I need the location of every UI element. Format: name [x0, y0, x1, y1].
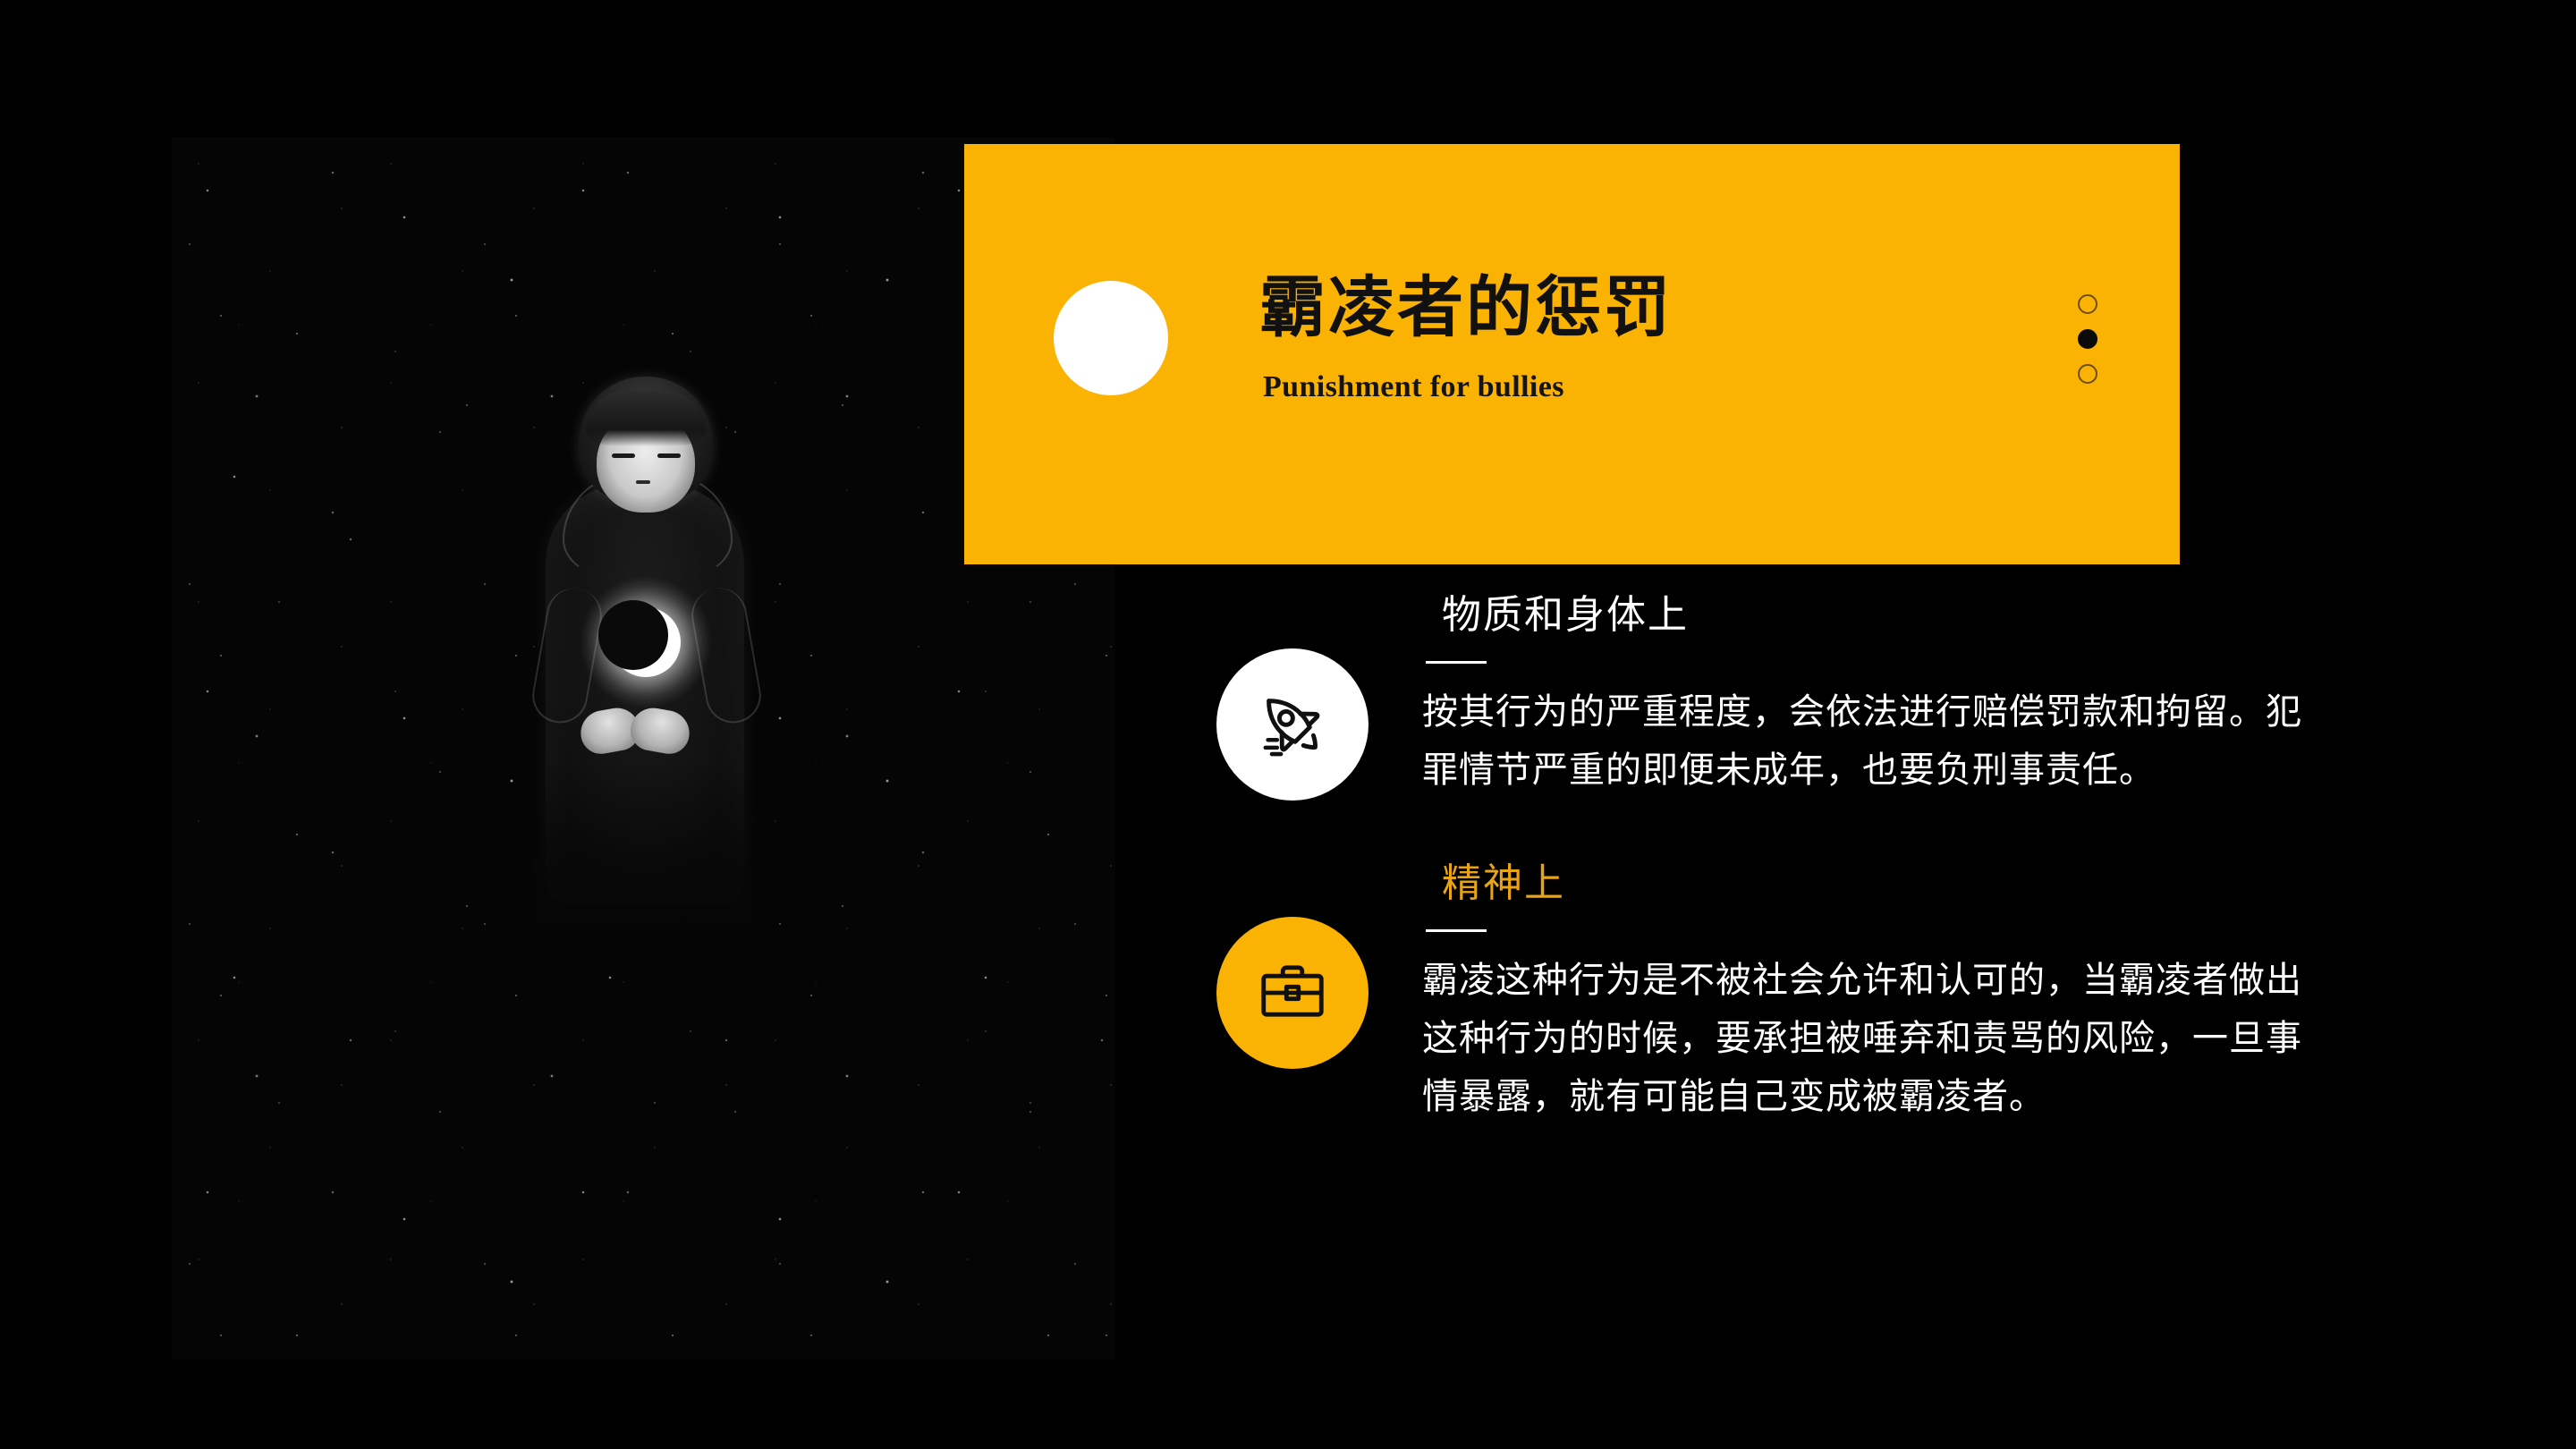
white-circle-icon [1054, 281, 1168, 395]
section-paragraph-physical: 按其行为的严重程度，会依法进行赔偿罚款和拘留。犯罪情节严重的即便未成年，也要负刑… [1422, 683, 2334, 800]
pagination-dot-3[interactable] [2078, 364, 2097, 384]
page-title: 霸凌者的惩罚 [1259, 269, 2011, 345]
section-physical: 物质和身体上 按其行为的严重程度，会依法进行赔偿罚款和拘留。犯罪情节严重的即便未… [1216, 590, 2343, 859]
banner-title-group: 霸凌者的惩罚 Punishment for bullies [1259, 269, 2011, 404]
section-mental-body: 精神上 霸凌这种行为是不被社会允许和认可的，当霸凌者做出这种行为的时候，要承担被… [1422, 859, 2343, 1125]
figure-mouth [636, 480, 650, 484]
section-paragraph-mental: 霸凌这种行为是不被社会允许和认可的，当霸凌者做出这种行为的时候，要承担被唾弃和责… [1422, 952, 2334, 1125]
section-mental: 精神上 霸凌这种行为是不被社会允许和认可的，当霸凌者做出这种行为的时候，要承担被… [1216, 859, 2343, 1127]
crescent-moon-mask [598, 600, 668, 670]
content-sections: 物质和身体上 按其行为的严重程度，会依法进行赔偿罚款和拘留。犯罪情节严重的即便未… [1216, 590, 2343, 1127]
pagination-dot-2-active[interactable] [2078, 329, 2097, 349]
figure-bangs [586, 391, 706, 446]
pagination-dot-1[interactable] [2078, 294, 2097, 314]
section-physical-body: 物质和身体上 按其行为的严重程度，会依法进行赔偿罚款和拘留。犯罪情节严重的即便未… [1422, 590, 2343, 800]
rocket-icon [1216, 648, 1368, 801]
figure-eye-left [612, 453, 635, 458]
figure-fade-out [532, 761, 756, 967]
page-subtitle: Punishment for bullies [1263, 370, 2011, 404]
section-divider [1426, 929, 1487, 932]
section-divider [1426, 661, 1487, 664]
child-figure [496, 377, 792, 967]
section-heading-physical: 物质和身体上 [1422, 590, 2343, 640]
title-banner: 霸凌者的惩罚 Punishment for bullies [964, 144, 2180, 564]
pagination-dots[interactable] [2078, 294, 2097, 384]
section-heading-mental: 精神上 [1422, 859, 2343, 908]
figure-eye-right [657, 453, 681, 458]
briefcase-icon [1216, 917, 1368, 1069]
